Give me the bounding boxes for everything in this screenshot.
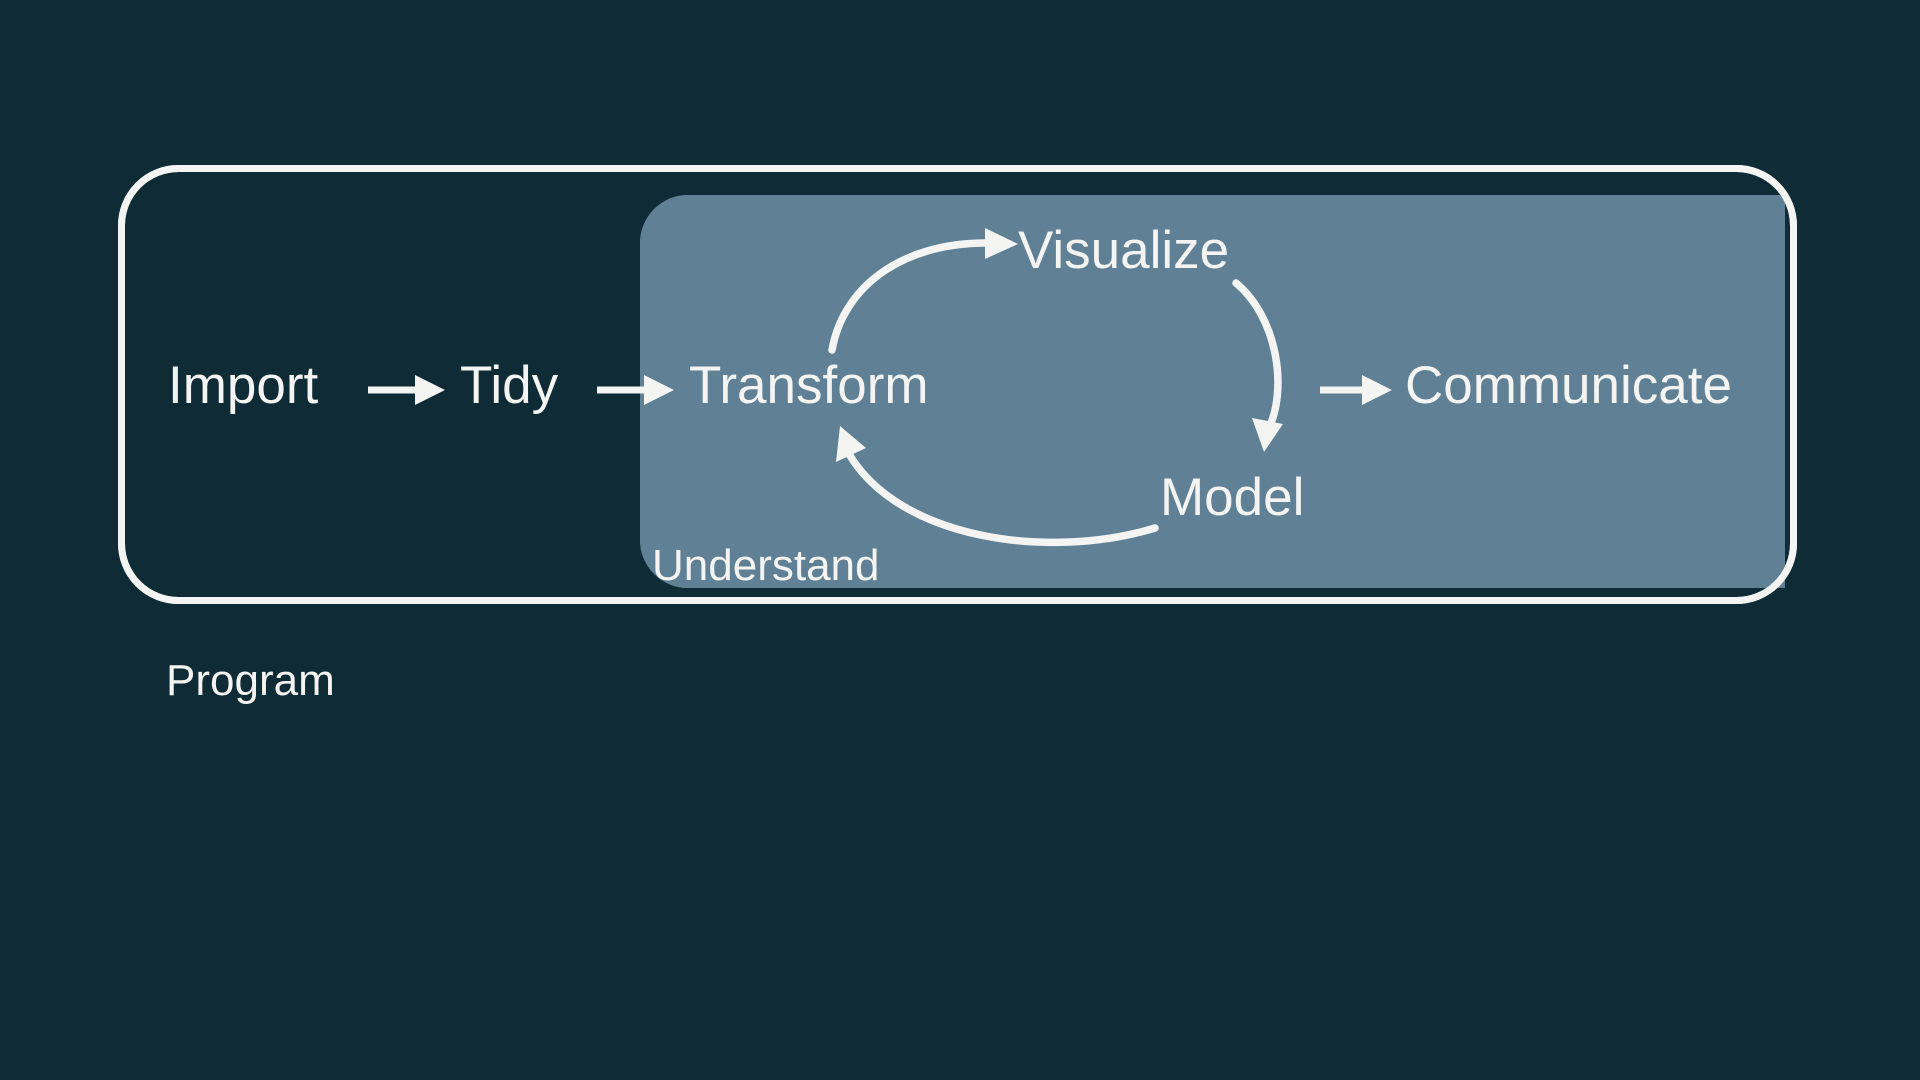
group-label-program: Program <box>166 656 335 705</box>
node-label-communicate: Communicate <box>1405 356 1732 415</box>
workflow-diagram: Import Tidy Transform Visualize Model Co… <box>0 0 1920 1080</box>
node-label-visualize: Visualize <box>1018 221 1229 280</box>
node-label-tidy: Tidy <box>460 356 559 415</box>
node-label-import: Import <box>168 356 318 415</box>
group-label-understand: Understand <box>652 541 879 590</box>
node-label-model: Model <box>1160 468 1304 527</box>
arrow-import-to-tidy <box>368 375 445 405</box>
diagram-canvas: Import Tidy Transform Visualize Model Co… <box>0 0 1920 1080</box>
node-label-transform: Transform <box>689 356 929 415</box>
